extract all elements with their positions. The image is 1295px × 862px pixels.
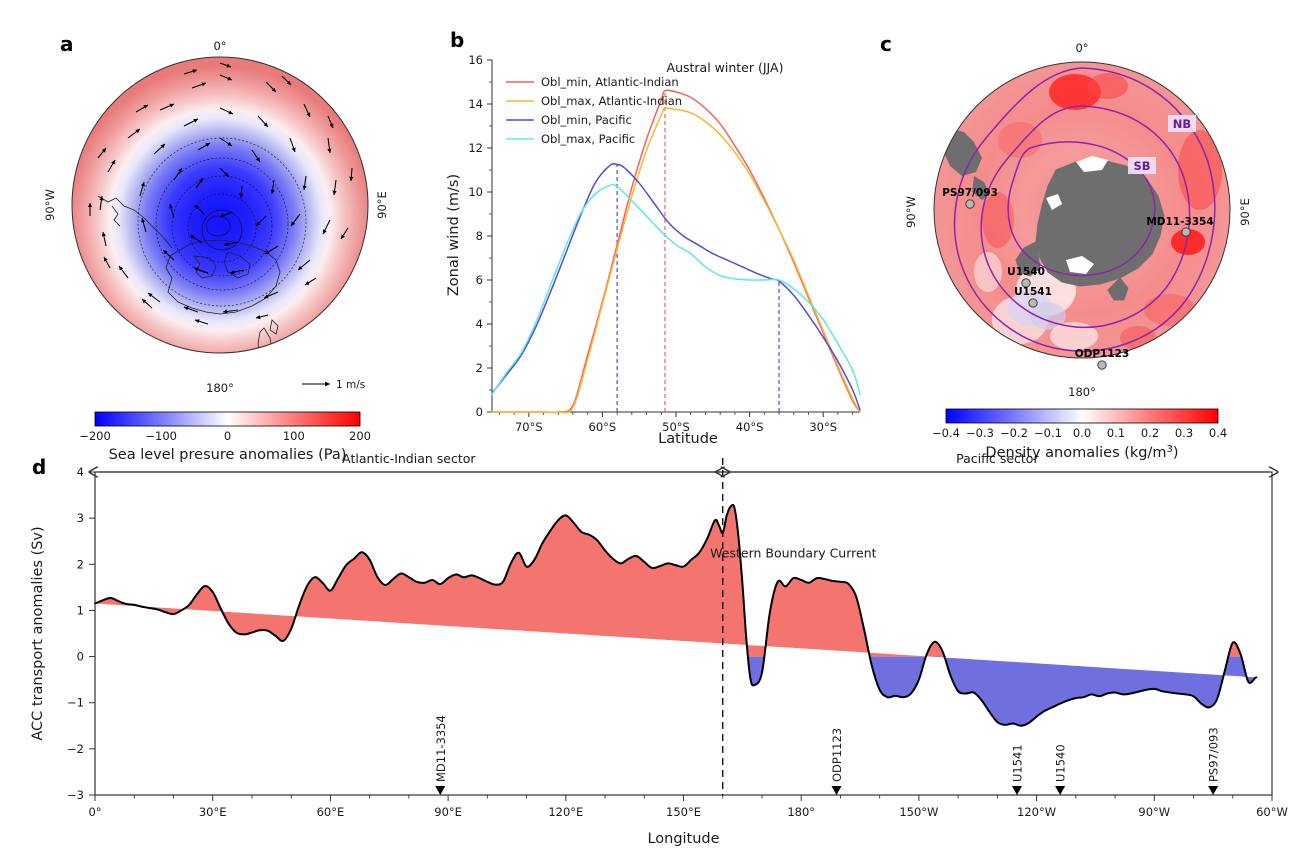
- panel-b-yticklabel: 6: [476, 273, 483, 287]
- cb-a-tick-0: −200: [79, 429, 111, 443]
- panel-d-sector-label-right: Pacific sector: [956, 451, 1039, 466]
- panel-b-yticklabel: 14: [468, 97, 483, 111]
- panel-d-annotation: Western Boundary Current: [710, 545, 876, 560]
- panel-d-xticklabel: 60°W: [1256, 805, 1288, 819]
- cb-c-tick-4: 0.0: [1073, 426, 1091, 440]
- panel-b-ylabel: Zonal wind (m/s): [446, 174, 462, 296]
- panel-d-marker-arrow-4: [1208, 786, 1218, 795]
- panel-b-yticklabel: 10: [468, 185, 483, 199]
- panel-d-marker-arrow-1: [832, 786, 842, 795]
- panel-b-yticklabel: 0: [476, 405, 483, 419]
- panel-d-marker-arrow-2: [1012, 786, 1022, 795]
- panel-b-yticklabel: 2: [476, 361, 483, 375]
- wind-vector-key-label: 1 m/s: [336, 379, 365, 391]
- panel-a-map: 0° 90°W 90°E 180° 1 m/s −200 −100 0 100 …: [20, 20, 440, 450]
- panel-d-xticklabel: 120°E: [548, 805, 583, 819]
- panel-d-marker-label-2: U1541: [1010, 744, 1024, 782]
- panel-b-yticklabel: 12: [468, 141, 483, 155]
- panel-b-chart: 024681012141670°S60°S50°S40°S30°S Obl_mi…: [440, 20, 870, 450]
- panel-a-lon-top: 0°: [213, 39, 226, 53]
- panel-d-marker-label-1: ODP1123: [830, 728, 844, 782]
- panel-b-annotation: Austral winter (JJA): [667, 60, 784, 75]
- panel-c-map: NB SB PS97/093 MD11-3354 U1540 U1541: [870, 20, 1295, 450]
- panel-d-marker-label-4: PS97/093: [1207, 727, 1221, 782]
- panel-b-yticklabel: 16: [468, 53, 483, 67]
- cb-c-tick-6: 0.2: [1141, 426, 1159, 440]
- core-site-md11-label: MD11-3354: [1146, 216, 1213, 228]
- legend-label-1: Obl_max, Atlantic-Indian: [541, 94, 682, 108]
- panel-a-lon-left: 90°W: [43, 189, 57, 221]
- panel-d-xlabel: Longitude: [647, 831, 719, 847]
- panel-d-xticklabel: 180°: [787, 805, 815, 819]
- panel-d-xticklabel: 150°E: [666, 805, 701, 819]
- figure-canvas: a: [0, 0, 1295, 862]
- panel-b-label: b: [450, 28, 464, 52]
- panel-d-area: [95, 505, 1256, 726]
- panel-b-xticklabel: 70°S: [515, 420, 543, 434]
- panel-b: b 024681012141670°S60°S50°S40°S30°S Obl_…: [440, 20, 870, 450]
- cb-a-tick-1: −100: [145, 429, 177, 443]
- panel-d-marker-arrow-3: [1055, 786, 1065, 795]
- panel-c-lon-bottom: 180°: [1068, 385, 1096, 399]
- panel-d-ylabel: ACC transport anomalies (Sv): [30, 526, 46, 740]
- legend-label-2: Obl_min, Pacific: [541, 113, 632, 127]
- panel-d-xticklabel: 150°W: [899, 805, 938, 819]
- panel-b-legend: Obl_min, Atlantic-IndianObl_max, Atlanti…: [506, 75, 682, 146]
- cb-c-tick-5: 0.1: [1107, 426, 1125, 440]
- panel-d-xticklabel: 30°E: [199, 805, 227, 819]
- cb-c-tick-7: 0.3: [1175, 426, 1193, 440]
- panel-d: d −3−2−1012340°30°E60°E90°E120°E150°E180…: [20, 450, 1285, 862]
- panel-d-yticklabel: 2: [77, 557, 84, 571]
- panel-b-xticklabel: 30°S: [809, 420, 837, 434]
- panel-c: c: [870, 20, 1295, 450]
- panel-d-yticklabel: 0: [77, 650, 84, 664]
- legend-label-3: Obl_max, Pacific: [541, 132, 635, 146]
- panel-d-marker-label-3: U1540: [1054, 744, 1068, 782]
- panel-c-lon-left: 90°W: [904, 196, 918, 228]
- core-site-u1541-label: U1541: [1014, 286, 1052, 298]
- panel-c-lon-top: 0°: [1075, 41, 1088, 55]
- panel-b-yticklabel: 8: [476, 229, 483, 243]
- panel-a: a: [20, 20, 440, 450]
- panel-d-xticklabel: 0°: [88, 805, 101, 819]
- panel-d-yticklabel: 4: [77, 465, 84, 479]
- panel-c-lon-right: 90°E: [1238, 198, 1252, 226]
- panel-d-marker-arrow-0: [435, 786, 445, 795]
- panel-c-label: c: [880, 32, 892, 56]
- panel-b-xlabel: Latitude: [658, 431, 718, 447]
- panel-d-xticklabel: 90°W: [1138, 805, 1170, 819]
- cb-c-tick-1: −0.3: [966, 426, 994, 440]
- front-label-nb-text: NB: [1173, 117, 1191, 131]
- panel-b-xticklabel: 40°S: [736, 420, 764, 434]
- cb-a-tick-4: 200: [349, 429, 371, 443]
- slp-anomaly-field: [72, 57, 368, 353]
- panel-b-yticklabel: 4: [476, 317, 483, 331]
- panel-d-marker-label-0: MD11-3354: [434, 715, 448, 782]
- cb-a-tick-2: 0: [224, 429, 231, 443]
- cb-c-tick-3: −0.1: [1034, 426, 1062, 440]
- front-label-sb-group: SB: [1128, 157, 1156, 174]
- panel-d-sector-arrows: Atlantic-Indian sectorPacific sector: [98, 451, 1269, 472]
- panel-a-label: a: [60, 32, 74, 56]
- cb-c-tick-0: −0.4: [932, 426, 960, 440]
- cb-c-tick-2: −0.2: [1000, 426, 1028, 440]
- panel-d-label: d: [32, 455, 46, 479]
- core-site-odp1123: ODP1123: [1075, 348, 1130, 369]
- cb-a-tick-3: 100: [283, 429, 305, 443]
- front-label-sb-text: SB: [1133, 159, 1150, 173]
- panel-d-site-markers: MD11-3354ODP1123U1541U1540PS97/093: [434, 715, 1221, 795]
- front-label-nb-group: NB: [1168, 115, 1196, 132]
- panel-d-yticklabel: 3: [77, 511, 84, 525]
- core-site-ps97-label: PS97/093: [942, 187, 998, 199]
- core-site-u1540-label: U1540: [1007, 266, 1045, 278]
- panel-d-yticklabel: −2: [67, 742, 84, 756]
- core-site-odp1123-label: ODP1123: [1075, 348, 1130, 360]
- panel-b-series-1: [492, 108, 860, 413]
- cb-c-tick-8: 0.4: [1209, 426, 1227, 440]
- panel-b-axes: 024681012141670°S60°S50°S40°S30°S: [468, 53, 860, 434]
- legend-label-0: Obl_min, Atlantic-Indian: [541, 75, 679, 89]
- panel-d-xticklabel: 120°W: [1017, 805, 1056, 819]
- panel-a-lon-right: 90°E: [375, 191, 389, 219]
- panel-d-yticklabel: −1: [67, 696, 84, 710]
- panel-a-lon-bottom: 180°: [206, 381, 234, 395]
- panel-d-yticklabel: 1: [77, 603, 84, 617]
- panel-d-xticklabel: 60°E: [317, 805, 345, 819]
- panel-d-xticklabel: 90°E: [434, 805, 462, 819]
- panel-d-chart: −3−2−1012340°30°E60°E90°E120°E150°E180°1…: [20, 450, 1285, 862]
- wind-vector-key: 1 m/s: [302, 379, 365, 391]
- panel-d-sector-label-left: Atlantic-Indian sector: [342, 451, 476, 466]
- panel-b-xticklabel: 60°S: [589, 420, 617, 434]
- panel-d-yticklabel: −3: [67, 788, 84, 802]
